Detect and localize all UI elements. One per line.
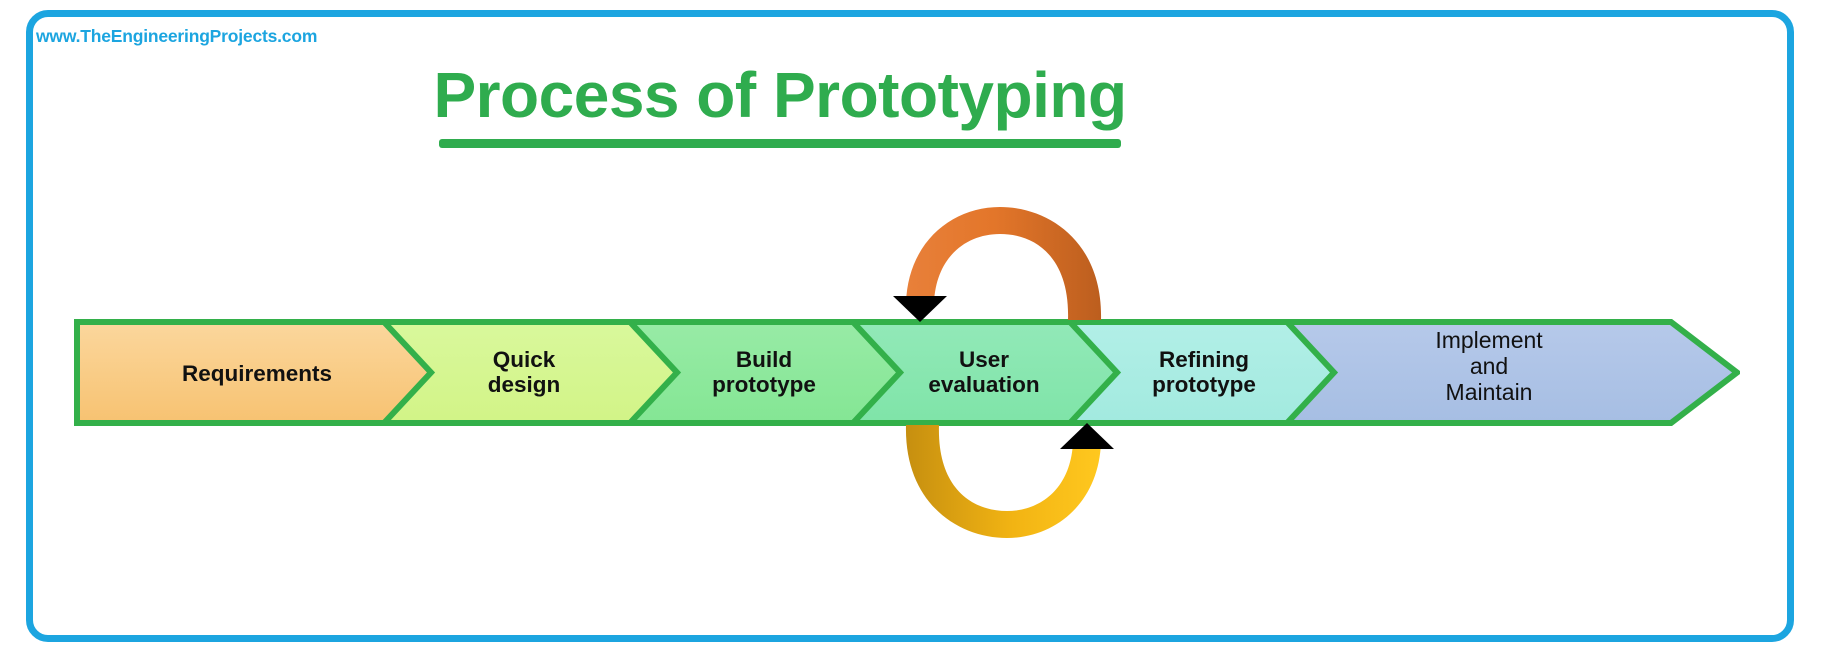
- diagram-canvas: www.TheEngineeringProjects.com Process o…: [0, 0, 1822, 654]
- chevron-step-1: [77, 322, 431, 423]
- chevron-step-6: [1277, 322, 1737, 423]
- process-flow-band: Requirements Quick design Build prototyp…: [74, 319, 1740, 426]
- page-title: Process of Prototyping: [430, 62, 1130, 129]
- title-block: Process of Prototyping: [430, 62, 1130, 148]
- site-watermark: www.TheEngineeringProjects.com: [36, 26, 317, 47]
- title-underline: [439, 139, 1121, 148]
- chevron-arrows-svg: [74, 319, 1740, 426]
